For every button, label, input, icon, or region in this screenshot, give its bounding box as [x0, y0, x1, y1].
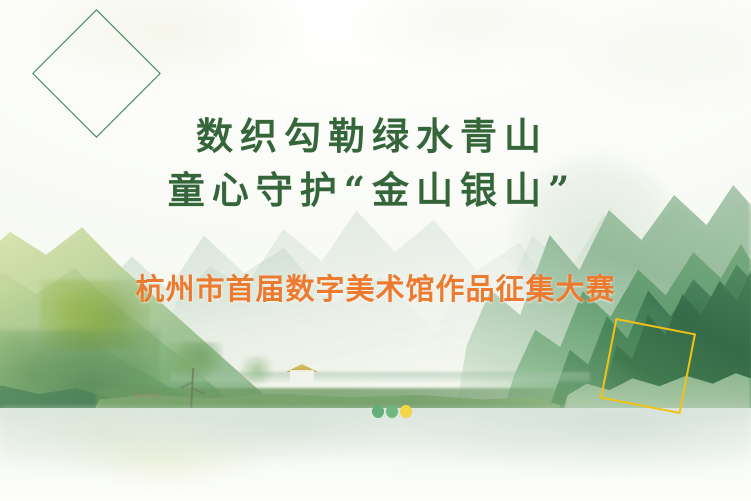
subtitle: 杭州市首届数字美术馆作品征集大赛	[0, 266, 751, 308]
gold-square-outline	[600, 318, 696, 414]
dot-yellow	[400, 405, 412, 418]
secondary-tree-canopy	[236, 356, 282, 384]
dot-group	[372, 405, 412, 418]
title-line-2: 童心守护“金山银山”	[0, 164, 751, 218]
lake-reflection	[0, 408, 751, 501]
dot-green-2	[386, 405, 398, 418]
far-shoreline	[170, 372, 590, 382]
poster-canvas: 数织勾勒绿水青山 童心守护“金山银山” 杭州市首届数字美术馆作品征集大赛	[0, 0, 751, 501]
house-body	[290, 370, 314, 382]
title-line-1: 数织勾勒绿水青山	[0, 110, 751, 164]
dot-green-1	[372, 405, 384, 418]
bridge-post-right	[152, 396, 154, 402]
title-block: 数织勾勒绿水青山 童心守护“金山银山”	[0, 110, 751, 217]
bridge-post-left	[137, 396, 139, 402]
